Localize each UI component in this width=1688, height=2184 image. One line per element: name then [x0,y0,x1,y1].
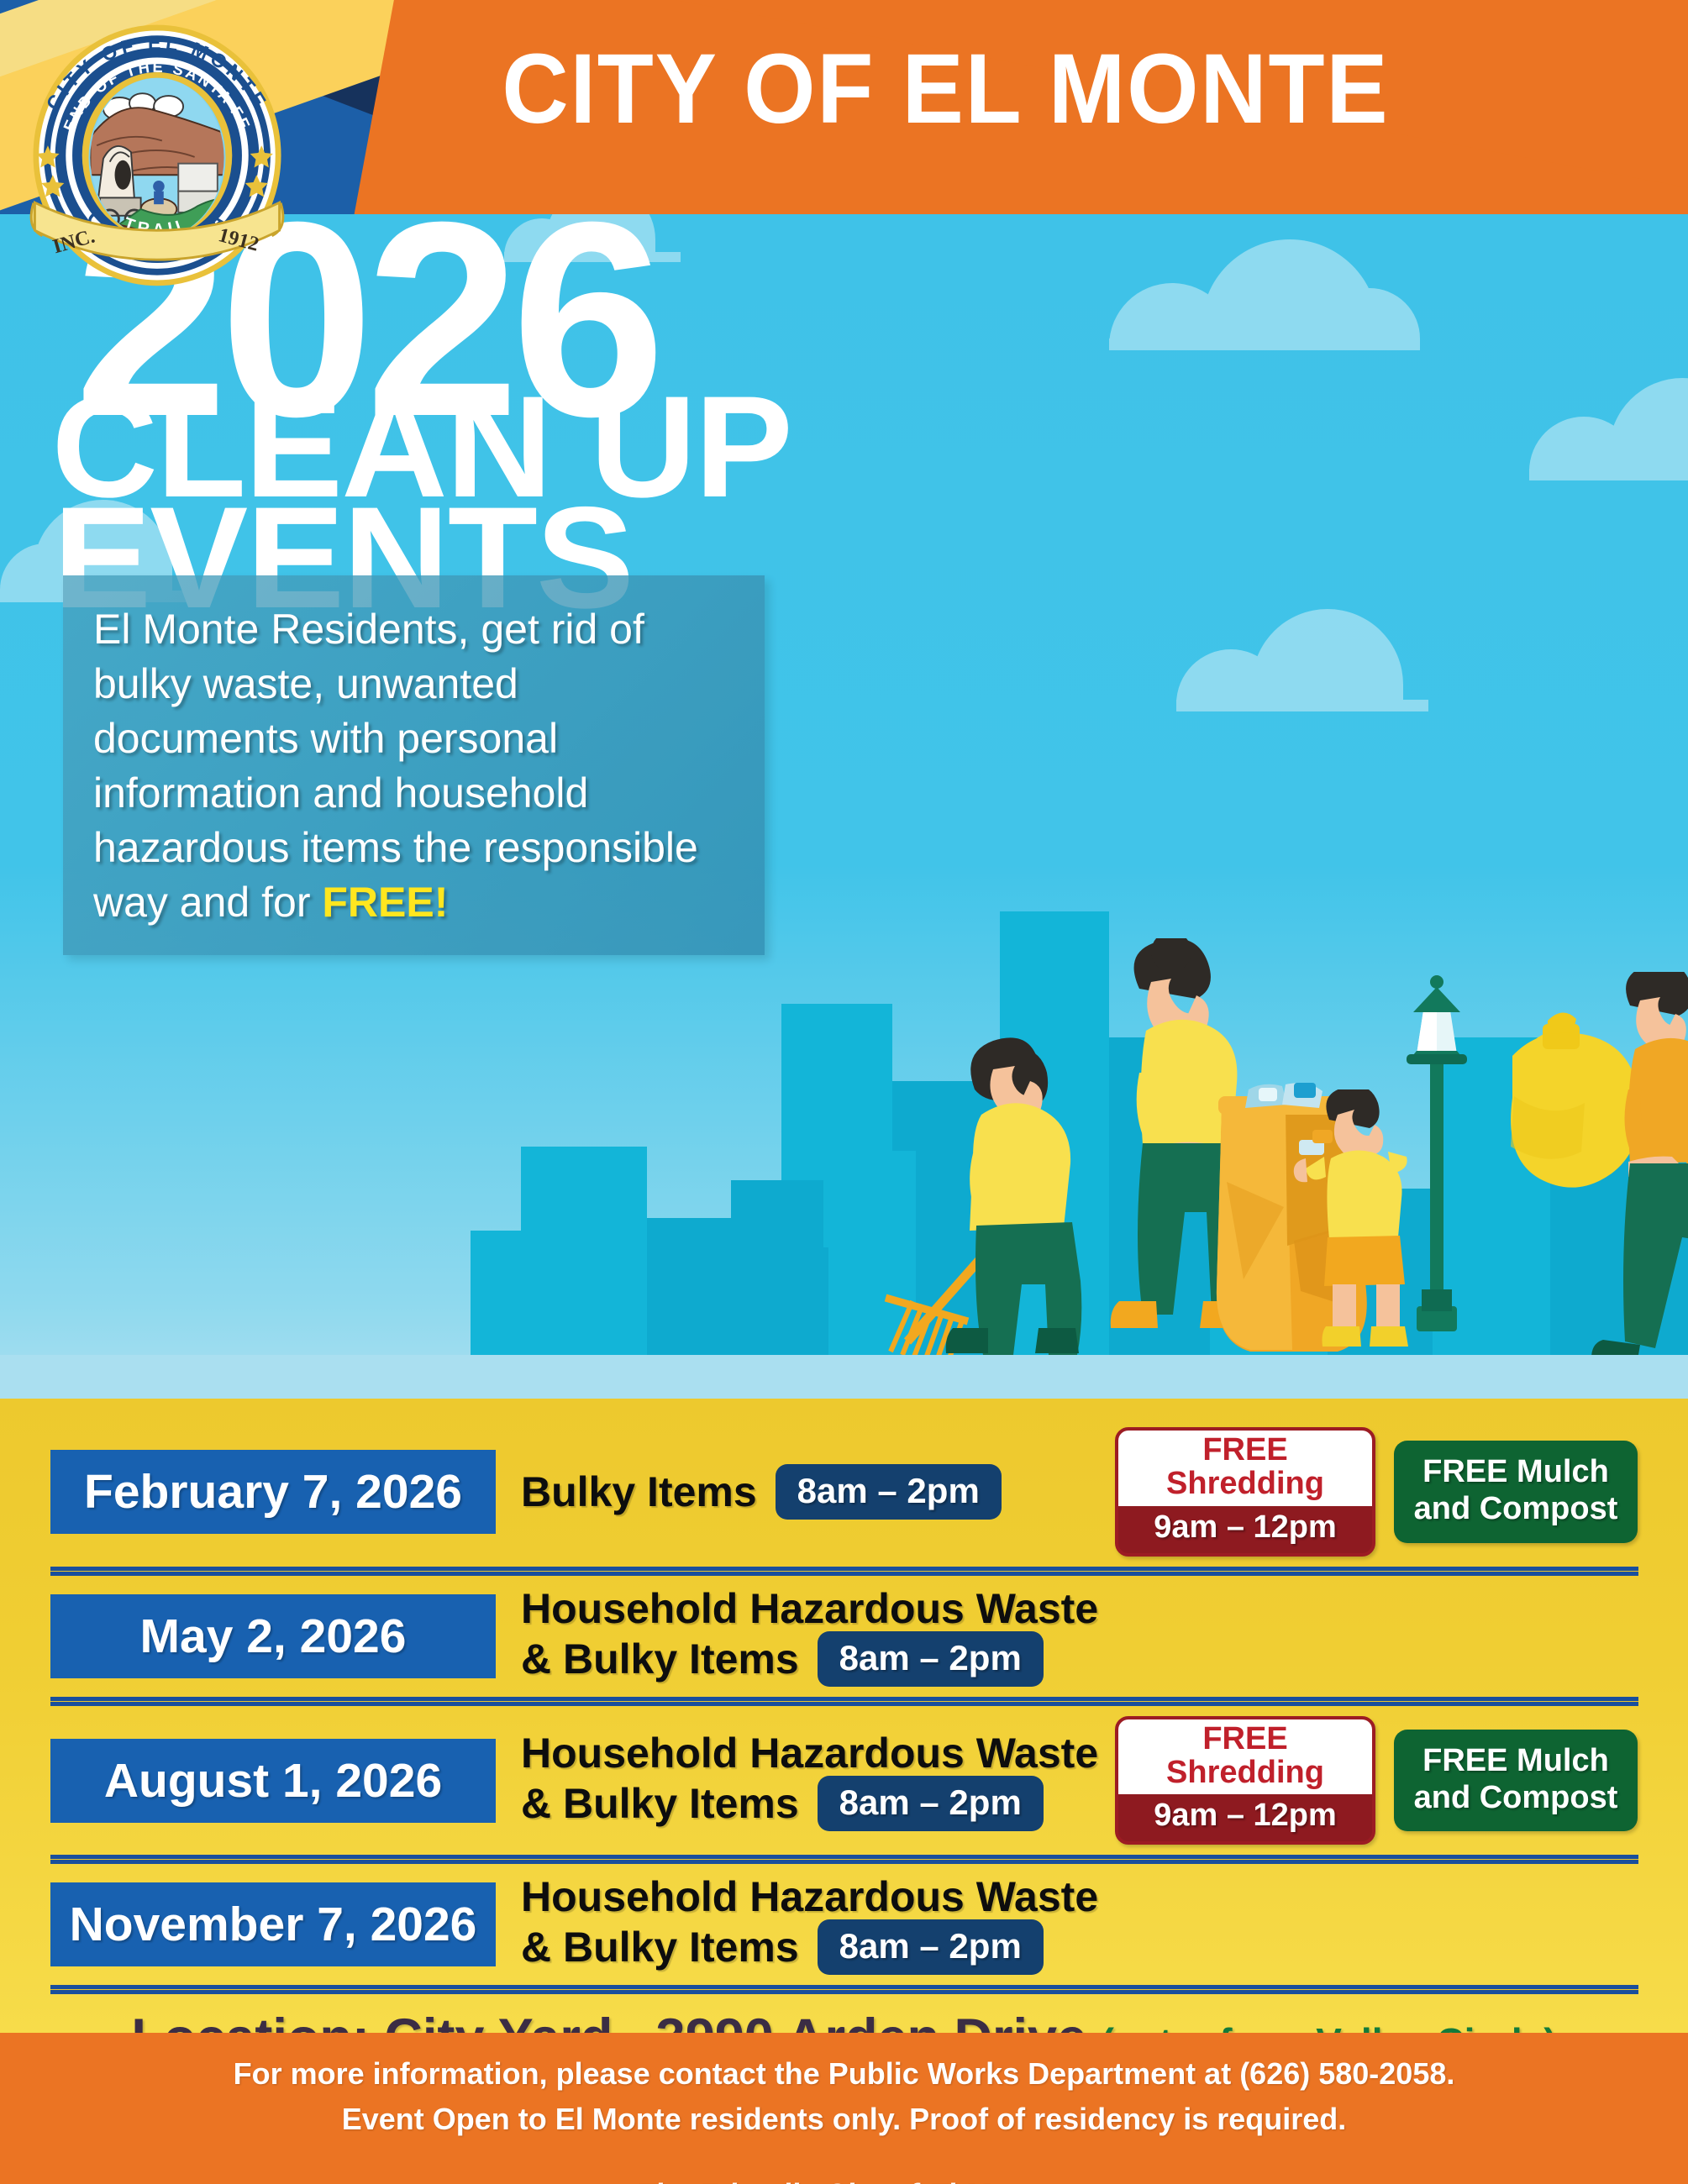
event-type: Household Hazardous Waste [521,1730,1115,1776]
event-type-line2: & Bulky Items [521,1781,799,1826]
free-shredding-label: FREE Shredding [1118,1719,1372,1795]
footer-contact-line: For more information, please contact the… [0,2051,1688,2097]
table-row: November 7, 2026 Household Hazardous Was… [50,1864,1638,1985]
event-details: Household Hazardous Waste & Bulky Items … [496,1586,1115,1687]
person-carrying-bag-illustration [1496,972,1688,1358]
table-row: August 1, 2026 Household Hazardous Waste… [50,1706,1638,1856]
event-badges: FREE Shredding 9am – 12pm FREE Mulch and… [1115,1716,1638,1845]
event-type: Household Hazardous Waste [521,1586,1115,1631]
row-divider [50,1697,1638,1706]
event-time-badge: 8am – 2pm [818,1776,1044,1831]
free-mulch-badge: FREE Mulch and Compost [1394,1441,1638,1542]
ground-strip [0,1355,1688,1399]
event-time-badge: 8am – 2pm [818,1919,1044,1975]
free-shredding-label: FREE Shredding [1118,1431,1372,1506]
child-illustration [1286,1089,1428,1358]
free-shredding-time: 9am – 12pm [1118,1794,1372,1841]
row-divider [50,1855,1638,1864]
poster: CITY OF EL MONTE [0,0,1688,2184]
event-type-line2: & Bulky Items [521,1636,799,1682]
event-date: May 2, 2026 [50,1594,496,1678]
city-seal-logo: CITY OF EL MONTE END OF THE SANTA FE TRA… [18,15,296,292]
free-shredding-badge: FREE Shredding 9am – 12pm [1115,1716,1375,1845]
hero-section: 2026 CLEAN UP EVENTS El Monte Residents,… [0,214,1688,1399]
cloud-icon [1176,609,1428,710]
table-row: February 7, 2026 Bulky Items 8am – 2pm F… [50,1417,1638,1567]
event-date: February 7, 2026 [50,1450,496,1534]
event-date: August 1, 2026 [50,1739,496,1823]
event-time-badge: 8am – 2pm [776,1464,1002,1520]
free-shredding-time: 9am – 12pm [1118,1506,1372,1553]
event-details: Household Hazardous Waste & Bulky Items … [496,1874,1115,1975]
event-type-line2: & Bulky Items [521,1924,799,1970]
event-type: Household Hazardous Waste [521,1874,1115,1919]
schedule-section: February 7, 2026 Bulky Items 8am – 2pm F… [0,1399,1688,2033]
event-date: November 7, 2026 [50,1882,496,1966]
cloud-icon [1529,378,1688,479]
event-details: Household Hazardous Waste & Bulky Items … [496,1730,1115,1831]
event-badges: FREE Shredding 9am – 12pm FREE Mulch and… [1115,1427,1638,1557]
row-divider [50,1567,1638,1576]
row-divider [50,1985,1638,1994]
cloud-icon [1109,239,1412,349]
event-type: Bulky Items [521,1469,757,1515]
description-free-highlight: FREE! [322,879,448,926]
footer-tagline: The Friendly City of El Monte [0,2172,1688,2184]
event-details: Bulky Items 8am – 2pm [496,1464,1115,1520]
description-text: El Monte Residents, get rid of bulky was… [93,606,698,926]
free-mulch-badge: FREE Mulch and Compost [1394,1730,1638,1831]
event-time-badge: 8am – 2pm [818,1631,1044,1687]
table-row: May 2, 2026 Household Hazardous Waste & … [50,1576,1638,1697]
footer-residency-line: Event Open to El Monte residents only. P… [0,2097,1688,2142]
footer-section: For more information, please contact the… [0,2033,1688,2184]
description-box: El Monte Residents, get rid of bulky was… [63,575,765,955]
free-shredding-badge: FREE Shredding 9am – 12pm [1115,1427,1375,1557]
